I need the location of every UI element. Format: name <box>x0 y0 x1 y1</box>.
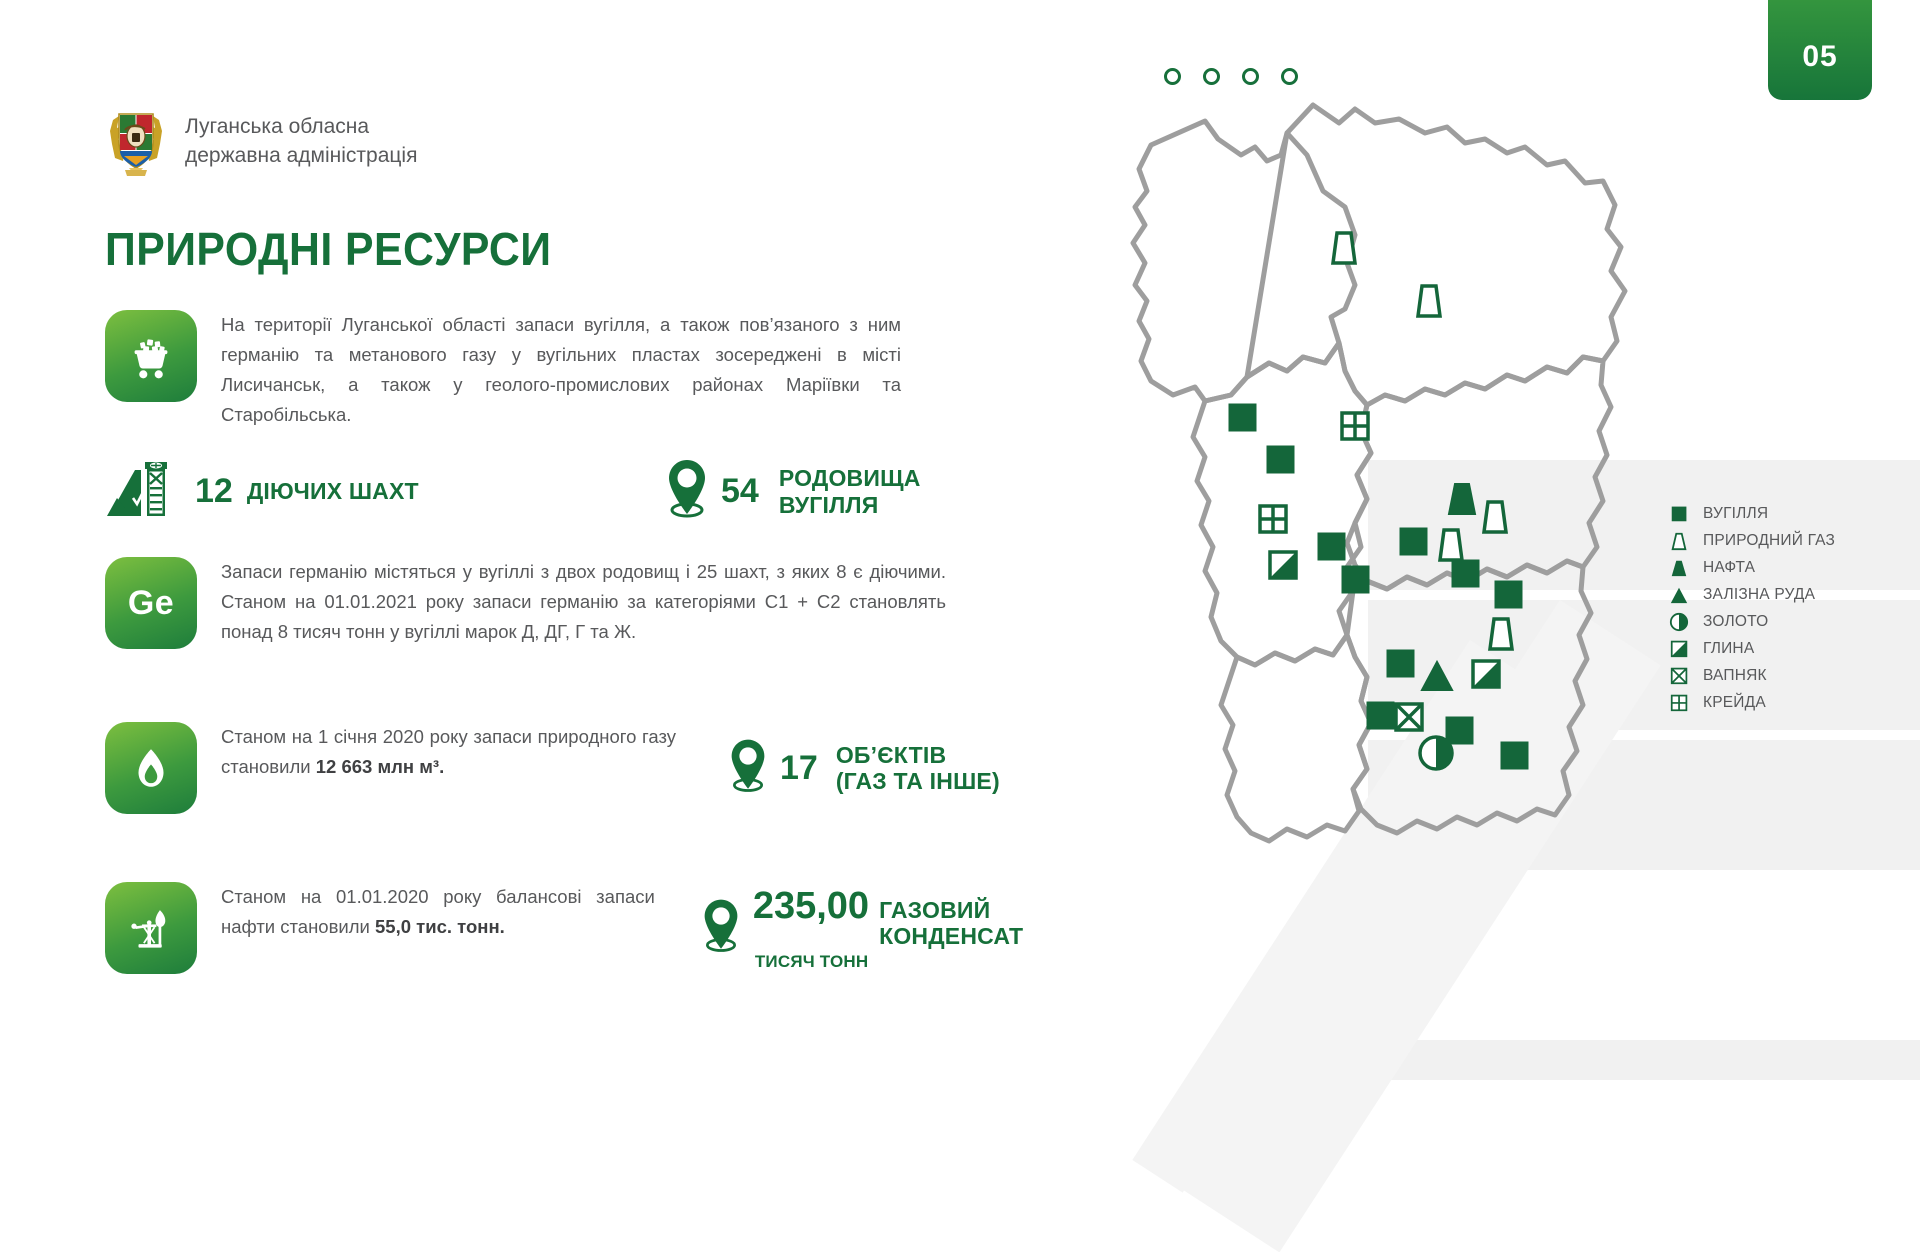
stat-gas-condensate-label-1: ГАЗОВИЙ КОНДЕНСАТ <box>879 897 1135 950</box>
marker-filled-square <box>1495 581 1522 608</box>
stat-coal-deposits-label-1: РОДОВИЩА <box>779 465 921 491</box>
dot-2 <box>1203 68 1220 85</box>
legend-item-limestone: ВАПНЯК <box>1668 662 1835 689</box>
stat-gas-condensate-label-2: ТИСЯЧ ТОНН <box>755 952 1135 972</box>
stat-coal-deposits-label: РОДОВИЩА ВУГІЛЛЯ <box>779 465 921 518</box>
stat-coal-deposits-label-2: ВУГІЛЛЯ <box>779 492 879 518</box>
gas-paragraph: Станом на 1 січня 2020 року запаси приро… <box>221 722 676 814</box>
stat-gas-objects-label-2: (ГАЗ ТА ІНШЕ) <box>836 768 1000 794</box>
map-pin-icon <box>728 737 768 800</box>
marker-filled-trapezoid <box>1449 484 1475 514</box>
marker-filled-square <box>1387 650 1414 677</box>
luhansk-oblast-map <box>1055 95 1675 915</box>
filled-trapezoid-icon <box>1668 557 1690 579</box>
marker-half-square <box>1270 552 1296 578</box>
legend-item-gold: ЗОЛОТО <box>1668 608 1835 635</box>
marker-filled-square <box>1446 717 1473 744</box>
legend-label-iron-ore: ЗАЛІЗНА РУДА <box>1703 586 1815 604</box>
oil-pumpjack-icon <box>105 882 197 974</box>
map-pin-icon <box>665 458 709 525</box>
marker-outline-trapezoid <box>1484 502 1506 532</box>
block-coal: На території Луганської області запаси в… <box>105 310 901 430</box>
organization-header: Луганська обласна державна адміністрація <box>105 106 417 178</box>
gas-flame-drop-icon <box>105 722 197 814</box>
marker-outline-trapezoid <box>1490 619 1512 649</box>
legend-label-clay: ГЛИНА <box>1703 640 1754 658</box>
marker-grid-square <box>1342 413 1368 439</box>
germanium-paragraph: Запаси германію містяться у вугіллі з дв… <box>221 557 946 649</box>
stat-mines-value: 12 <box>195 472 233 511</box>
map-district-novopskov <box>1133 121 1355 401</box>
gas-text-before: Станом на 1 січня 2020 року запаси приро… <box>221 726 676 777</box>
gas-text-bold: 12 663 млн м³. <box>316 756 444 777</box>
page-number: 05 <box>1802 40 1837 74</box>
map-district-svativ <box>1347 357 1611 589</box>
marker-crossed-square <box>1396 704 1422 730</box>
grid-square-icon <box>1668 692 1690 714</box>
marker-outline-trapezoid <box>1418 286 1440 316</box>
dot-indicator-group <box>1164 68 1298 85</box>
legend-item-natural-gas: ПРИРОДНИЙ ГАЗ <box>1668 527 1835 554</box>
deco-rect-4 <box>1354 1040 1920 1080</box>
marker-half-circle <box>1420 737 1452 769</box>
stat-gas-objects-value: 17 <box>780 749 818 788</box>
mine-tower-icon <box>105 458 181 525</box>
oil-text-bold: 55,0 тис. тонн. <box>375 916 505 937</box>
organization-name: Луганська обласна державна адміністрація <box>185 113 417 171</box>
coal-cart-icon <box>105 310 197 402</box>
legend-item-coal: ВУГІЛЛЯ <box>1668 500 1835 527</box>
stat-gas-objects-label-1: ОБ’ЄКТІВ <box>836 742 946 768</box>
dot-4 <box>1281 68 1298 85</box>
outline-trapezoid-icon <box>1668 530 1690 552</box>
marker-filled-square <box>1501 742 1528 769</box>
org-name-line2: державна адміністрація <box>185 142 417 171</box>
marker-filled-square <box>1367 702 1394 729</box>
ge-symbol-label: Ge <box>128 584 174 623</box>
legend-label-oil: НАФТА <box>1703 559 1755 577</box>
marker-filled-square <box>1318 533 1345 560</box>
block-germanium: Ge Запаси германію містяться у вугіллі з… <box>105 557 946 649</box>
marker-filled-square <box>1267 446 1294 473</box>
stat-mines-label: ДІЮЧИХ ШАХТ <box>247 478 419 504</box>
filled-triangle-icon <box>1668 584 1690 606</box>
legend-item-chalk: КРЕЙДА <box>1668 689 1835 716</box>
map-district-popasna <box>1221 635 1371 841</box>
stat-coal-deposits: 54 РОДОВИЩА ВУГІЛЛЯ <box>665 458 921 525</box>
block-oil: Станом на 01.01.2020 року балансові запа… <box>105 882 1135 974</box>
marker-half-square <box>1473 661 1499 687</box>
map-pin-icon <box>701 897 741 960</box>
filled-square-icon <box>1668 503 1690 525</box>
marker-grid-square <box>1260 506 1286 532</box>
legend-label-chalk: КРЕЙДА <box>1703 694 1766 712</box>
page-title: ПРИРОДНІ РЕСУРСИ <box>105 222 551 276</box>
marker-filled-square <box>1452 560 1479 587</box>
crossed-square-icon <box>1668 665 1690 687</box>
half-square-icon <box>1668 638 1690 660</box>
legend-item-clay: ГЛИНА <box>1668 635 1835 662</box>
marker-filled-square <box>1342 566 1369 593</box>
coal-paragraph: На території Луганської області запаси в… <box>221 310 901 430</box>
marker-outline-trapezoid <box>1333 233 1355 263</box>
stat-gas-objects-label: ОБ’ЄКТІВ (ГАЗ ТА ІНШЕ) <box>836 742 1000 795</box>
map-markers <box>1229 233 1528 769</box>
legend-label-gold: ЗОЛОТО <box>1703 613 1768 631</box>
org-name-line1: Луганська обласна <box>185 113 417 142</box>
legend-item-iron-ore: ЗАЛІЗНА РУДА <box>1668 581 1835 608</box>
dot-1 <box>1164 68 1181 85</box>
stat-gas-condensate-text: 235,00 ГАЗОВИЙ КОНДЕНСАТ ТИСЯЧ ТОНН <box>753 885 1135 971</box>
half-circle-icon <box>1668 611 1690 633</box>
stat-gas-condensate-value: 235,00 <box>753 885 869 928</box>
stats-row-coal: 12 ДІЮЧИХ ШАХТ 54 РОДОВИЩА ВУГІЛЛЯ <box>105 458 921 525</box>
stat-coal-deposits-value: 54 <box>721 472 759 511</box>
stat-mines: 12 ДІЮЧИХ ШАХТ <box>105 458 665 525</box>
marker-outline-trapezoid <box>1440 530 1462 560</box>
oil-paragraph: Станом на 01.01.2020 року балансові запа… <box>221 882 655 974</box>
legend-label-limestone: ВАПНЯК <box>1703 667 1767 685</box>
map-district-kreminna <box>1193 343 1371 665</box>
marker-filled-triangle <box>1422 662 1452 690</box>
marker-filled-square <box>1229 404 1256 431</box>
legend-item-oil: НАФТА <box>1668 554 1835 581</box>
coat-of-arms-icon <box>105 106 167 178</box>
legend-label-coal: ВУГІЛЛЯ <box>1703 505 1768 523</box>
map-legend: ВУГІЛЛЯ ПРИРОДНИЙ ГАЗ НАФТА ЗАЛІЗНА РУДА… <box>1668 500 1835 716</box>
block-gas: Станом на 1 січня 2020 року запаси приро… <box>105 722 1000 814</box>
stat-gas-condensate: 235,00 ГАЗОВИЙ КОНДЕНСАТ ТИСЯЧ ТОНН <box>701 882 1135 974</box>
stat-gas-objects: 17 ОБ’ЄКТІВ (ГАЗ ТА ІНШЕ) <box>728 722 1000 814</box>
map-district-antratsyt <box>1347 561 1591 833</box>
dot-3 <box>1242 68 1259 85</box>
marker-filled-square <box>1400 528 1427 555</box>
page-number-badge: 05 <box>1768 0 1872 100</box>
ge-symbol-icon: Ge <box>105 557 197 649</box>
legend-label-natural-gas: ПРИРОДНИЙ ГАЗ <box>1703 532 1835 550</box>
